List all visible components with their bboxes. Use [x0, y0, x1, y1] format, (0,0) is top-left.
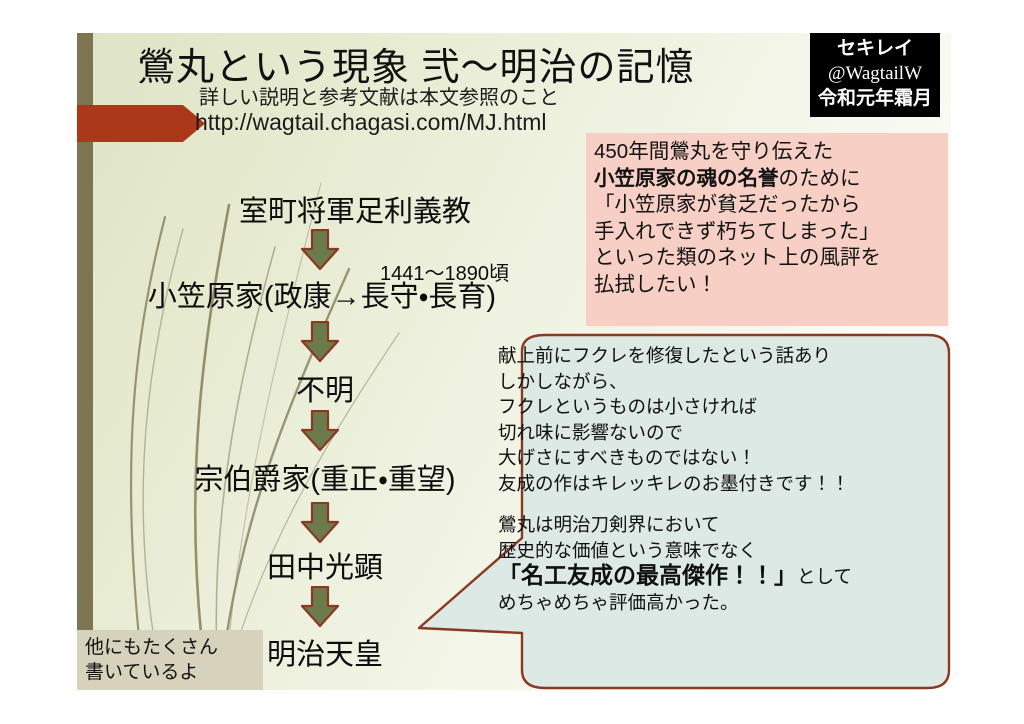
badge-handle-jp: セキレイ — [810, 36, 940, 61]
bubble-p1-line-2: しかしながら、 — [498, 369, 928, 395]
bottom-note-line-1: 他にもたくさん — [85, 635, 263, 660]
bubble-p1-line-4: 切れ味に影響ないので — [498, 420, 928, 446]
pink-line-1: 450年間鶯丸を守り伝えた — [594, 139, 948, 166]
pink-line-2-tail: のために — [779, 167, 861, 190]
bottom-note: 他にもたくさん 書いているよ — [77, 630, 263, 690]
badge-handle-en: @WagtailW — [810, 61, 940, 86]
bubble-emphasis-line: 「名工友成の最高傑作！！」として — [498, 563, 928, 590]
flow-arrow-2 — [300, 410, 340, 452]
author-badge: セキレイ @WagtailW 令和元年霜月 — [810, 33, 940, 117]
bubble-p1-line-5: 大げさにすべきものではない！ — [498, 445, 928, 471]
pink-callout: 450年間鶯丸を守り伝えた 小笠原家の魂の名誉のために 「小笠原家が貧乏だったか… — [586, 133, 948, 326]
flow-node-0: 室町将軍足利義教 — [135, 188, 575, 230]
flow-node-4: 田中光顕 — [135, 544, 515, 586]
banner-arrow-icon — [77, 105, 205, 142]
pink-bold-phrase: 小笠原家の魂の名誉 — [594, 167, 779, 190]
bubble-paragraph-gap — [498, 496, 928, 512]
bubble-p1-line-6: 友成の作はキレッキレのお墨付きです！！ — [498, 471, 928, 497]
slide-canvas: 鶯丸という現象 弐〜明治の記憶 詳しい説明と参考文献は本文参照のこと http:… — [77, 33, 951, 690]
bubble-p2-line-2: 歴史的な価値という意味でなく — [498, 538, 928, 564]
source-url[interactable]: http://wagtail.chagasi.com/MJ.html — [195, 109, 547, 136]
bubble-p2-line-1: 鶯丸は明治刀剣界において — [498, 512, 928, 538]
pink-line-2: 小笠原家の魂の名誉のために — [594, 166, 948, 193]
pink-line-5: といった類のネット上の風評を — [594, 245, 948, 272]
page-subtitle: 詳しい説明と参考文献は本文参照のこと — [199, 81, 559, 110]
pink-line-6: 払拭したい！ — [594, 272, 948, 299]
flow-node-3: 宗伯爵家(重正・重望) — [105, 456, 545, 498]
flow-arrow-3 — [300, 502, 340, 544]
flow-arrow-1 — [300, 321, 340, 363]
flow-node-1: 小笠原家(政康→長守・長育) — [77, 273, 567, 315]
bubble-p1-line-3: フクレというものは小さければ — [498, 394, 928, 420]
bubble-emphasis-tail: として — [797, 566, 852, 587]
pink-line-3: 「小笠原家が貧乏だったから — [594, 192, 948, 219]
bubble-p1-line-1: 献上前にフクレを修復したという話あり — [498, 343, 928, 369]
flow-node-2: 不明 — [135, 367, 515, 409]
flow-arrow-4 — [300, 586, 340, 628]
bottom-note-line-2: 書いているよ — [85, 660, 263, 685]
bubble-emphasis: 「名工友成の最高傑作！！」 — [498, 562, 797, 588]
badge-date: 令和元年霜月 — [810, 86, 940, 111]
flow-arrow-0 — [300, 229, 340, 271]
speech-bubble-text: 献上前にフクレを修復したという話あり しかしながら、 フクレというものは小さけれ… — [498, 343, 928, 615]
bubble-p2-line-4: めちゃめちゃ評価高かった。 — [498, 590, 928, 616]
pink-line-4: 手入れできず朽ちてしまった」 — [594, 219, 948, 246]
